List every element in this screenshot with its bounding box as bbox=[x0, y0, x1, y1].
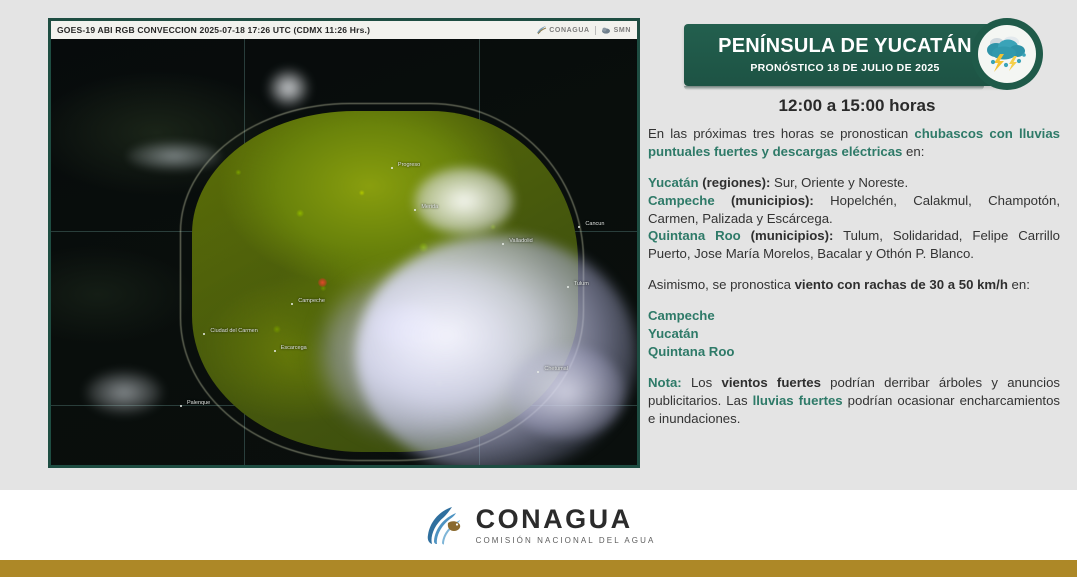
area-state: Quintana Roo bbox=[648, 228, 741, 243]
satellite-title: GOES-19 ABI RGB CONVECCION 2025-07-18 17… bbox=[57, 25, 370, 35]
city-dot bbox=[274, 350, 276, 352]
cloud-patch bbox=[268, 69, 309, 107]
area-entry: Yucatán (regiones): Sur, Oriente y Nores… bbox=[648, 174, 1060, 192]
conagua-footer-logo: CONAGUA COMISIÓN NACIONAL DEL AGUA bbox=[0, 490, 1077, 560]
spacer bbox=[648, 361, 1060, 374]
cloud-patch bbox=[508, 346, 625, 440]
conagua-name: CONAGUA bbox=[476, 506, 656, 533]
area-entry: Quintana Roo (municipios): Tulum, Solida… bbox=[648, 227, 1060, 263]
city-label: Escarcega bbox=[281, 345, 307, 351]
satellite-logos: CONAGUA SMN bbox=[536, 25, 631, 35]
header-banner: PENÍNSULA DE YUCATÁN PRONÓSTICO 18 DE JU… bbox=[684, 24, 1006, 86]
conagua-logo-label: CONAGUA bbox=[549, 27, 589, 34]
satellite-titlebar: GOES-19 ABI RGB CONVECCION 2025-07-18 17… bbox=[51, 21, 637, 39]
note-highlight-wind: vientos fuertes bbox=[722, 375, 821, 390]
area-scope: (municipios): bbox=[715, 193, 814, 208]
forecast-infographic: GOES-19 ABI RGB CONVECCION 2025-07-18 17… bbox=[0, 0, 1077, 577]
area-entry: Campeche (municipios): Hopelchén, Calakm… bbox=[648, 192, 1060, 228]
note-part-1: Los bbox=[682, 375, 722, 390]
smn-cloud-icon bbox=[601, 25, 612, 35]
wind-state: Yucatán bbox=[648, 325, 1060, 343]
satellite-image: GOES-19 ABI RGB CONVECCION 2025-07-18 17… bbox=[48, 18, 640, 468]
conagua-eagle-water-icon bbox=[422, 503, 466, 547]
city-label: Progreso bbox=[398, 162, 420, 168]
wind-state: Quintana Roo bbox=[648, 343, 1060, 361]
intro-suffix: en: bbox=[902, 144, 924, 159]
city-dot bbox=[567, 286, 569, 288]
city-dot bbox=[391, 167, 393, 169]
conagua-logo-small: CONAGUA bbox=[536, 25, 589, 35]
city-label: Palenque bbox=[187, 400, 210, 406]
banner-shadow bbox=[684, 86, 984, 90]
intro-mid: y bbox=[758, 144, 773, 159]
spacer bbox=[648, 294, 1060, 307]
city-label: Ciudad del Carmen bbox=[210, 328, 257, 334]
city-label: Tulum bbox=[574, 281, 589, 287]
city-label: Campeche bbox=[298, 298, 325, 304]
cloud-patch bbox=[414, 167, 514, 235]
city-label: Chetumal bbox=[544, 366, 568, 372]
wind-states-list: Campeche Yucatán Quintana Roo bbox=[648, 307, 1060, 361]
note-label: Nota: bbox=[648, 375, 682, 390]
city-label: Merida bbox=[421, 204, 438, 210]
wind-paragraph: Asimismo, se pronostica viento con racha… bbox=[648, 276, 1060, 294]
intro-paragraph: En las próximas tres horas se pronostica… bbox=[648, 125, 1060, 161]
forecast-body: En las próximas tres horas se pronostica… bbox=[648, 125, 1060, 428]
conagua-wave-icon bbox=[536, 25, 547, 35]
satellite-canvas: ProgresoMeridaValladolidCampecheCancunTu… bbox=[51, 39, 637, 465]
logo-separator bbox=[595, 26, 596, 35]
cloud-patch bbox=[127, 141, 221, 171]
note-paragraph: Nota: Los vientos fuertes podrían derrib… bbox=[648, 374, 1060, 427]
smn-logo-small: SMN bbox=[601, 25, 631, 35]
cloud-patch bbox=[86, 371, 162, 414]
wind-state: Campeche bbox=[648, 307, 1060, 325]
conagua-logo-text: CONAGUA COMISIÓN NACIONAL DEL AGUA bbox=[476, 506, 656, 545]
intro-prefix: En las próximas tres horas se pronostica… bbox=[648, 126, 914, 141]
weather-badge-inner bbox=[978, 25, 1036, 83]
area-state: Yucatán bbox=[648, 175, 699, 190]
conagua-tagline: COMISIÓN NACIONAL DEL AGUA bbox=[476, 536, 656, 545]
thunderstorm-rain-icon bbox=[984, 34, 1030, 74]
intro-highlight-lightning: descargas eléctricas bbox=[773, 144, 903, 159]
affected-areas-list: Yucatán (regiones): Sur, Oriente y Nores… bbox=[648, 174, 1060, 264]
time-range: 12:00 a 15:00 horas bbox=[648, 96, 1060, 116]
page-title: PENÍNSULA DE YUCATÁN bbox=[718, 36, 972, 57]
bottom-gold-band bbox=[0, 560, 1077, 577]
city-label: Cancun bbox=[585, 221, 604, 227]
area-places: Sur, Oriente y Noreste. bbox=[770, 175, 908, 190]
hotspot-marker bbox=[318, 278, 327, 287]
weather-badge bbox=[971, 18, 1043, 90]
smn-logo-label: SMN bbox=[614, 27, 631, 34]
wind-prefix: Asimismo, se pronostica bbox=[648, 277, 795, 292]
city-label: Valladolid bbox=[509, 238, 532, 244]
header-banner-area: PENÍNSULA DE YUCATÁN PRONÓSTICO 18 DE JU… bbox=[648, 18, 1060, 90]
wind-highlight: viento con rachas de 30 a 50 km/h bbox=[795, 277, 1008, 292]
note-highlight-rain: lluvias fuertes bbox=[753, 393, 843, 408]
spacer bbox=[648, 161, 1060, 174]
area-state: Campeche bbox=[648, 193, 715, 208]
forecast-text-column: PENÍNSULA DE YUCATÁN PRONÓSTICO 18 DE JU… bbox=[648, 18, 1060, 428]
spacer bbox=[648, 263, 1060, 276]
area-scope: (regiones): bbox=[699, 175, 771, 190]
wind-suffix: en: bbox=[1008, 277, 1030, 292]
page-subtitle: PRONÓSTICO 18 DE JULIO DE 2025 bbox=[750, 62, 939, 74]
area-scope: (municipios): bbox=[741, 228, 834, 243]
